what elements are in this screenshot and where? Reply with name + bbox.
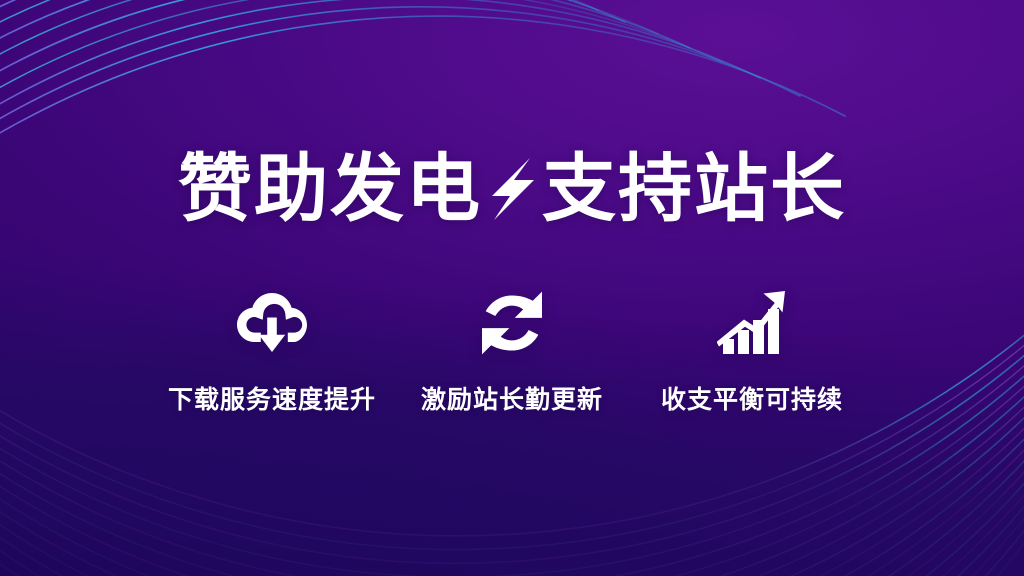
sponsor-banner: 赞助发电 支持站长 下载服务速度提升 (0, 0, 1024, 576)
banner-title: 赞助发电 支持站长 (178, 152, 846, 226)
cloud-download-icon (236, 288, 308, 358)
feature-item-download: 下载服务速度提升 (162, 288, 382, 416)
banner-content: 赞助发电 支持站长 下载服务速度提升 (0, 0, 1024, 576)
feature-label-growth: 收支平衡可持续 (661, 380, 843, 416)
feature-label-update: 激励站长勤更新 (421, 380, 603, 416)
growth-chart-icon (717, 288, 787, 358)
lightning-bolt-icon (484, 152, 540, 226)
title-segment-right: 支持站长 (542, 152, 846, 226)
refresh-sync-icon (480, 288, 544, 358)
feature-row: 下载服务速度提升 激励站长勤更新 (162, 288, 862, 416)
title-segment-left: 赞助发电 (178, 152, 482, 226)
feature-label-download: 下载服务速度提升 (168, 380, 376, 416)
feature-item-growth: 收支平衡可持续 (642, 288, 862, 416)
feature-item-update: 激励站长勤更新 (402, 288, 622, 416)
